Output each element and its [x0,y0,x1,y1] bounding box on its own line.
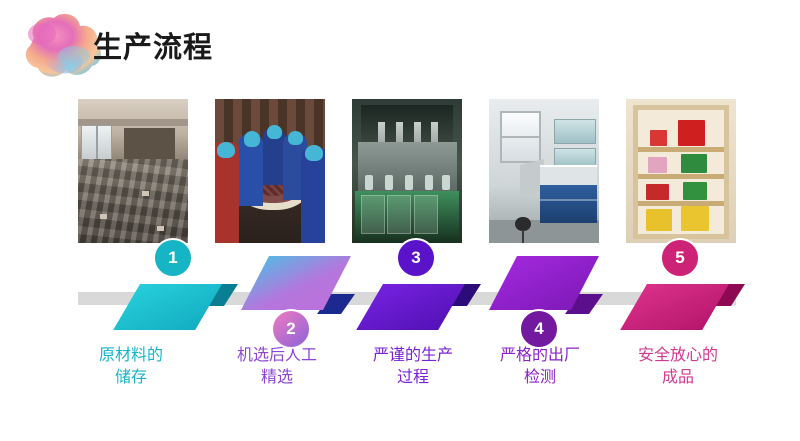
photo-warehouse [78,99,188,243]
step-number-2: 2 [271,309,311,349]
step-number-3: 3 [396,238,436,278]
photo-strip [78,99,738,243]
photo-filling-machine [352,99,462,243]
page-title: 生产流程 [93,28,213,68]
step-caption-1: 原材料的 储存 [46,345,216,389]
step-number-1: 1 [153,238,193,278]
process-step-5[interactable]: 5 [613,250,763,360]
slide-canvas: 生产流程 [0,0,800,441]
photo-product-shelf [626,99,736,243]
photo-sorting [215,99,325,243]
process-step-4[interactable]: 4 [473,250,623,360]
step-number-5: 5 [660,238,700,278]
step-caption-5: 安全放心的 成品 [593,345,763,389]
photo-laboratory [489,99,599,243]
step-number-4: 4 [519,309,559,349]
